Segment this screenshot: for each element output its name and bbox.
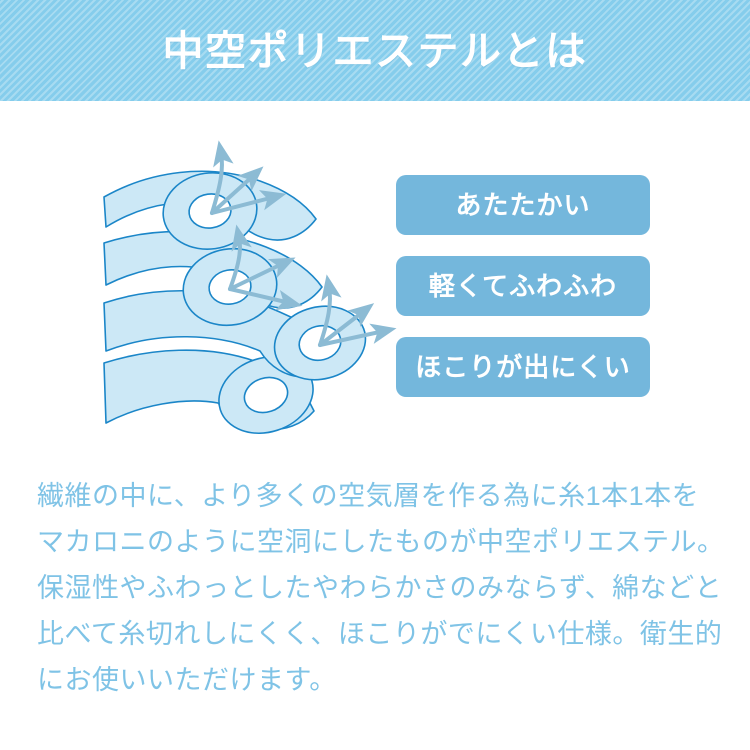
hollow-fiber-illustration [88,135,398,445]
feature-badge-label: 軽くてふわふわ [429,273,617,299]
description-line: マカロニのように空洞にしたものが中空ポリエステル。 [37,519,727,565]
description-line: 保湿性やふわっとしたやわらかさのみならず、綿などと [37,565,727,611]
feature-badge-label: あたたかい [455,192,590,218]
description-line: 繊維の中に、より多くの空気層を作る為に糸1本1本を [37,473,727,519]
feature-badge-list: あたたかい 軽くてふわふわ ほこりが出にくい [396,175,650,397]
infographic-page: 中空ポリエステルとは [0,0,750,750]
page-title: 中空ポリエステルとは [163,31,588,72]
feature-badge-light-fluffy[interactable]: 軽くてふわふわ [396,256,650,316]
feature-badge-label: ほこりが出にくい [415,354,630,380]
description-paragraph: 繊維の中に、より多くの空気層を作る為に糸1本1本を マカロニのように空洞にしたも… [37,473,727,703]
description-line: 比べて糸切れしにくく、ほこりがでにくい仕様。衛生的 [37,611,727,657]
fiber-diagram-svg [88,135,398,445]
feature-badge-dust-free[interactable]: ほこりが出にくい [396,337,650,397]
header-banner: 中空ポリエステルとは [0,0,750,101]
description-line: にお使いいただけます。 [37,657,727,703]
fiber-tubes [104,167,373,445]
feature-badge-warm[interactable]: あたたかい [396,175,650,235]
